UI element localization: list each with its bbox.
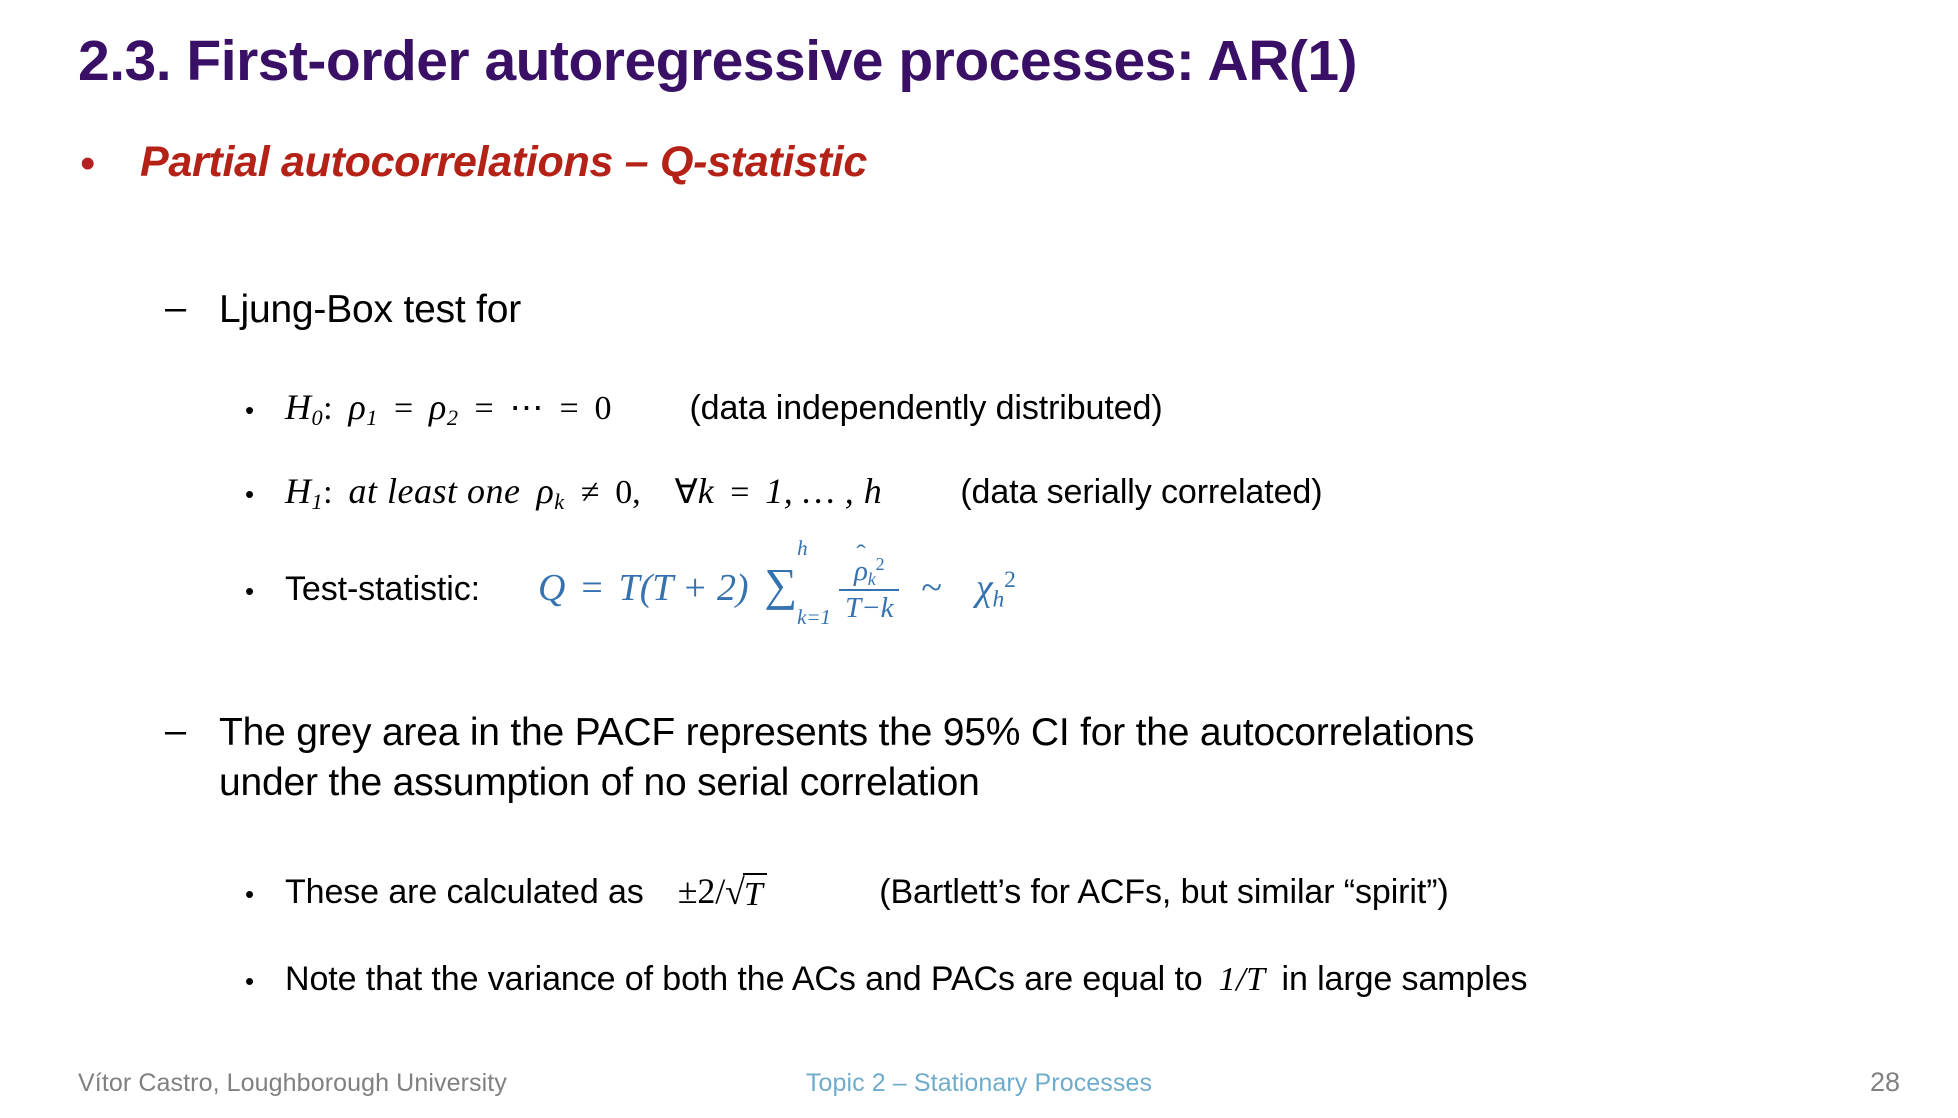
- numerator-rho: ρ: [854, 555, 868, 587]
- summation-group: ∑hk=1: [764, 555, 797, 615]
- h1-not-equal: ≠: [581, 471, 600, 515]
- bartlett-note: (Bartlett’s for ACFs, but similar “spiri…: [879, 870, 1448, 914]
- bullet-partial-autocorrelations-label: Partial autocorrelations – Q-statistic: [140, 138, 867, 187]
- plus-minus-two-over: ±2/: [678, 868, 725, 915]
- dash-marker-icon: –: [165, 285, 189, 333]
- sigma-lower-limit: k=1: [797, 604, 831, 631]
- h0-ellipsis: ⋯: [510, 387, 544, 431]
- sigma-icon: ∑: [764, 559, 797, 610]
- h1-subscript: 1: [312, 489, 324, 514]
- bartlett-lead-text: These are calculated as: [285, 870, 644, 914]
- h0-rho-2: ρ: [429, 384, 447, 431]
- h1-zero: 0,: [615, 471, 640, 515]
- h1-rho: ρ: [537, 468, 555, 515]
- footer-topic: Topic 2 – Stationary Processes: [0, 1069, 1958, 1098]
- dash-marker-icon: –: [165, 708, 189, 756]
- test-statistic-row: Test-statistic:Q=T(T + 2)∑hk=1̂ρk2T−k~χh…: [285, 555, 1016, 626]
- variance-note-tail: in large samples: [1281, 957, 1527, 1001]
- chi-subscript: h: [992, 587, 1004, 613]
- h1-phrase: at least one: [349, 468, 521, 515]
- bullet-ljung-box: – Ljung-Box test for: [165, 285, 1865, 335]
- numerator-subscript: k: [868, 569, 876, 589]
- variance-formula: 1/T: [1219, 958, 1266, 1002]
- chi-superscript: 2: [1004, 567, 1016, 593]
- bullet-bartlett-bounds: • These are calculated as±2/√T(Bartlett’…: [245, 868, 1905, 915]
- distributed-as-icon: ~: [921, 567, 941, 609]
- h0-rho-1-subscript: 1: [366, 405, 378, 430]
- h0-equals-2: =: [474, 387, 493, 431]
- h1-range: 1, … , h: [765, 468, 882, 515]
- h1-note: (data serially correlated): [960, 470, 1322, 514]
- sigma-upper-limit: h: [797, 535, 807, 562]
- square-root-group: √T: [725, 873, 767, 913]
- grey-area-line-1: The grey area in the PACF represents the…: [219, 711, 1474, 754]
- fraction-denominator: T−k: [839, 589, 899, 623]
- rho-hat-group: ̂ρ: [854, 556, 868, 586]
- h1-k: k: [698, 468, 714, 515]
- h0-symbol: H: [285, 384, 312, 431]
- h0-equals-3: =: [559, 387, 578, 431]
- footer-page-number: 28: [1870, 1067, 1900, 1098]
- bullet-dot-icon: •: [245, 481, 259, 507]
- test-statistic-label: Test-statistic:: [285, 567, 480, 611]
- slide-canvas: 2.3. First-order autoregressive processe…: [0, 0, 1958, 1118]
- chi-symbol: χ: [976, 567, 993, 609]
- null-hypothesis-expression: H0:ρ1=ρ2=⋯=0(data independently distribu…: [285, 384, 1163, 432]
- alternative-hypothesis-expression: H1:at least oneρk≠0,∀k=1, … , h(data ser…: [285, 468, 1322, 516]
- bullet-alternative-hypothesis: • H1:at least oneρk≠0,∀k=1, … , h(data s…: [245, 468, 1905, 516]
- h1-forall-icon: ∀: [675, 471, 698, 515]
- h1-equals: =: [730, 471, 749, 515]
- bullet-ljung-box-label: Ljung-Box test for: [219, 285, 521, 335]
- bullet-marker-icon: •: [80, 138, 102, 186]
- bullet-dot-icon: •: [245, 968, 259, 994]
- h0-note: (data independently distributed): [689, 386, 1162, 430]
- grey-area-paragraph: The grey area in the PACF represents the…: [219, 708, 1865, 808]
- bullet-variance-note: • Note that the variance of both the ACs…: [245, 957, 1905, 1002]
- fraction-numerator: ̂ρk2: [848, 555, 891, 590]
- bullet-dot-icon: •: [245, 578, 259, 604]
- variance-note-lead: Note that the variance of both the ACs a…: [285, 957, 1203, 1001]
- h1-rho-subscript: k: [554, 489, 564, 514]
- bullet-dot-icon: •: [245, 397, 259, 423]
- h0-equals-1: =: [394, 387, 413, 431]
- rho-fraction: ̂ρk2T−k: [839, 555, 899, 624]
- radicand-t: T: [743, 873, 767, 913]
- numerator-superscript: 2: [876, 554, 885, 574]
- h0-rho-2-subscript: 2: [447, 405, 459, 430]
- page-title: 2.3. First-order autoregressive processe…: [78, 30, 1898, 93]
- bullet-partial-autocorrelations: • Partial autocorrelations – Q-statistic: [80, 138, 1880, 187]
- variance-note-row: Note that the variance of both the ACs a…: [285, 957, 1527, 1002]
- formula-t-expression: T(T + 2): [619, 567, 749, 609]
- formula-q: Q: [538, 567, 565, 609]
- radical-icon: √: [725, 874, 745, 914]
- h0-subscript: 0: [312, 405, 324, 430]
- bullet-dot-icon: •: [245, 881, 259, 907]
- h1-colon: :: [323, 471, 332, 515]
- h1-symbol: H: [285, 468, 312, 515]
- bartlett-bounds-row: These are calculated as±2/√T(Bartlett’s …: [285, 868, 1449, 915]
- h0-rho-1: ρ: [349, 384, 367, 431]
- h0-colon: :: [323, 387, 332, 431]
- bullet-grey-area: – The grey area in the PACF represents t…: [165, 708, 1865, 808]
- q-statistic-formula: Q=T(T + 2)∑hk=1̂ρk2T−k~χh2: [538, 555, 1016, 626]
- bullet-test-statistic: • Test-statistic:Q=T(T + 2)∑hk=1̂ρk2T−k~…: [245, 555, 1905, 626]
- h0-zero: 0: [595, 387, 612, 431]
- grey-area-line-2: under the assumption of no serial correl…: [219, 761, 980, 804]
- formula-equals: =: [581, 567, 602, 609]
- bullet-null-hypothesis: • H0:ρ1=ρ2=⋯=0(data independently distri…: [245, 384, 1905, 432]
